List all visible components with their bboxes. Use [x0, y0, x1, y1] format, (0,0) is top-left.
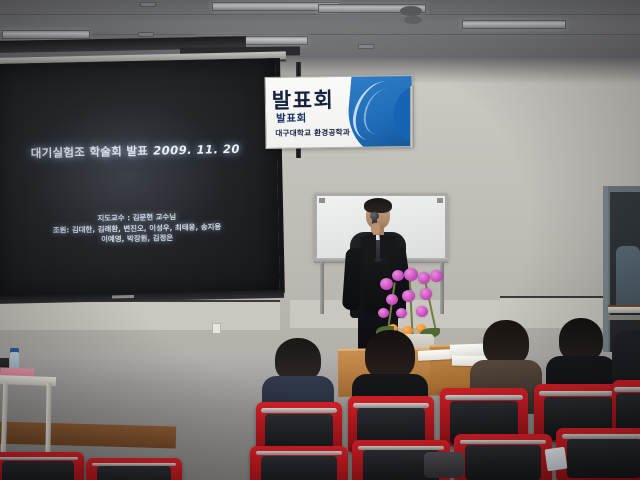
door-ledge — [608, 305, 640, 313]
auditorium-seat — [250, 446, 348, 480]
event-banner: 발표회 발표회 대구대학교 환경공학과 — [265, 75, 414, 149]
presenter-hand — [371, 223, 380, 234]
seat-top-bar — [562, 434, 640, 439]
ceiling-vent-icon — [138, 32, 154, 37]
presentation-slide: 대기실험조 학술회 발표2009. 11. 20 지도교수 : 김문현 교수님 … — [0, 58, 280, 299]
seat-cushion — [2, 461, 74, 480]
ceiling-vent-icon — [140, 2, 156, 7]
orchid-bloom — [420, 288, 432, 300]
banner-department: 대구대학교 환경공학과 — [275, 127, 350, 139]
ceiling — [0, 0, 640, 62]
seat-top-bar — [0, 457, 78, 461]
bag — [424, 452, 464, 478]
orchid-bloom — [430, 270, 443, 282]
orchid-bloom — [418, 272, 430, 284]
orchid-bloom — [416, 306, 428, 317]
ceiling-light-icon — [462, 20, 566, 29]
person-in-doorway — [616, 246, 640, 308]
handout-paper — [545, 447, 568, 472]
seat-top-bar — [539, 391, 616, 396]
auditorium-seat — [0, 452, 84, 480]
orchid-bloom — [378, 308, 389, 318]
orchid-bloom — [402, 290, 415, 302]
orchid-bloom — [386, 294, 398, 305]
power-outlet-icon — [212, 323, 221, 334]
banner-subhead: 발표회 — [276, 110, 307, 125]
seat-cushion — [97, 466, 172, 480]
microphone-icon — [370, 212, 379, 220]
presenter-hair — [364, 198, 392, 213]
banner-pole — [410, 86, 414, 148]
seat-top-bar — [353, 403, 429, 408]
slide-title: 대기실험조 학술회 발표2009. 11. 20 — [0, 140, 277, 162]
ceiling-speaker-icon — [400, 6, 422, 16]
ceiling-vent-icon — [358, 44, 374, 49]
slide-credits: 지도교수 : 김문현 교수님 조원: 김대한, 김래환, 변진오, 이성우, 최… — [0, 210, 279, 247]
lecture-hall-photo: 대기실험조 학술회 발표2009. 11. 20 지도교수 : 김문현 교수님 … — [0, 0, 640, 480]
whiteboard-leg — [320, 262, 324, 314]
orchid-bloom — [396, 308, 407, 318]
orchid-bloom — [392, 270, 404, 281]
projection-screen: 대기실험조 학술회 발표2009. 11. 20 지도교수 : 김문현 교수님 … — [0, 58, 285, 299]
orchid-bloom — [380, 278, 393, 290]
banner-swoosh-graphic — [344, 75, 413, 149]
whiteboard-corner — [319, 198, 325, 203]
seat-cushion — [567, 439, 640, 477]
audience-head — [365, 330, 415, 380]
ceiling-speaker-icon — [404, 16, 422, 24]
seat-top-bar — [460, 440, 546, 444]
wall-panel — [0, 300, 280, 330]
whiteboard-corner — [437, 198, 443, 203]
seat-top-bar — [261, 408, 337, 413]
seat-cushion — [465, 445, 541, 480]
auditorium-seat — [454, 434, 552, 480]
ceiling-light-icon — [2, 30, 90, 39]
seat-cushion — [261, 456, 337, 480]
seat-top-bar — [614, 387, 640, 392]
orchid-bloom — [404, 268, 418, 281]
slide-title-text: 대기실험조 학술회 발표 — [31, 144, 149, 160]
auditorium-seat — [86, 458, 182, 480]
auditorium-seat — [556, 428, 640, 480]
slide-title-date: 2009. 11. 20 — [153, 142, 240, 158]
seat-top-bar — [358, 446, 444, 450]
seat-top-bar — [256, 451, 342, 455]
seat-top-bar — [445, 395, 522, 400]
